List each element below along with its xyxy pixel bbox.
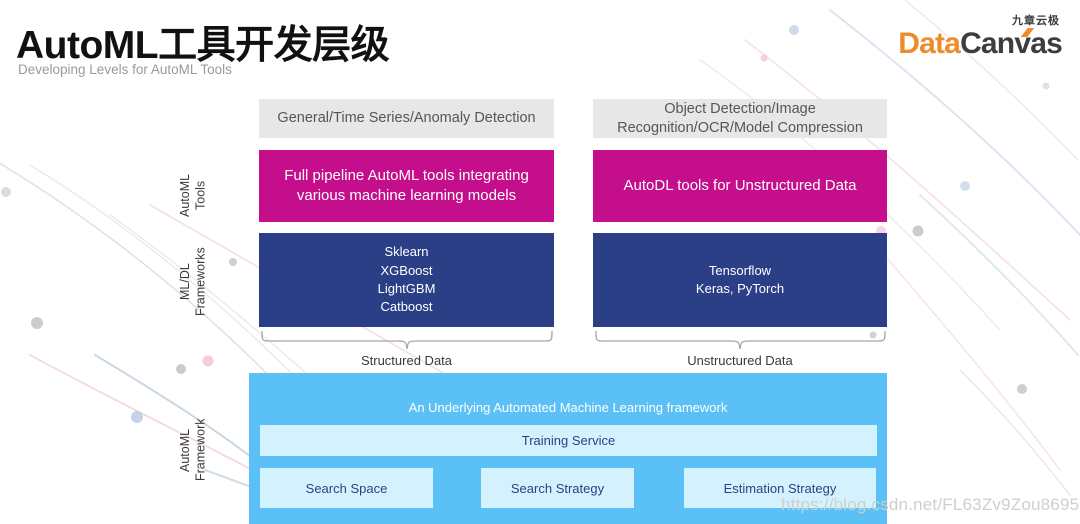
brace-label-structured: Structured Data: [259, 353, 554, 368]
search-strategy-box[interactable]: Search Strategy: [481, 468, 634, 508]
training-service-box[interactable]: Training Service: [260, 425, 877, 456]
brace-structured: [259, 330, 555, 350]
watermark-text: https://blog.csdn.net/FL63Zv9Zou86950w: [781, 495, 1080, 515]
row-label-automl-tools: AutoML Tools: [178, 160, 208, 230]
framework-box-structured: Sklearn XGBoost LightGBM Catboost: [259, 233, 554, 327]
domain-box-unstructured: Object Detection/Image Recognition/OCR/M…: [593, 99, 887, 138]
framework-box-unstructured: Tensorflow Keras, PyTorch: [593, 233, 887, 327]
logo-word-canvas: Canvas: [960, 27, 1062, 60]
page-subtitle: Developing Levels for AutoML Tools: [18, 62, 232, 77]
logo-wordmark: DataCanvas: [898, 27, 1062, 61]
brace-label-unstructured: Unstructured Data: [593, 353, 887, 368]
tool-box-structured: Full pipeline AutoML tools integrating v…: [259, 150, 554, 222]
datacanvas-logo: 九章云极 DataCanvas: [878, 12, 1062, 68]
slide-canvas: AutoML工具开发层级 Developing Levels for AutoM…: [0, 0, 1080, 524]
brace-unstructured: [593, 330, 888, 350]
search-space-box[interactable]: Search Space: [260, 468, 433, 508]
row-label-ml-dl-frameworks: ML/DL Frameworks: [178, 243, 208, 321]
logo-word-data: Data: [898, 27, 960, 60]
tool-box-unstructured: AutoDL tools for Unstructured Data: [593, 150, 887, 222]
framework-panel-title: An Underlying Automated Machine Learning…: [249, 400, 887, 415]
domain-box-structured: General/Time Series/Anomaly Detection: [259, 99, 554, 138]
row-label-automl-framework: AutoML Framework: [178, 405, 208, 495]
logo-chinese-name: 九章云极: [1012, 12, 1060, 28]
slide-header: AutoML工具开发层级 Developing Levels for AutoM…: [0, 0, 1080, 92]
